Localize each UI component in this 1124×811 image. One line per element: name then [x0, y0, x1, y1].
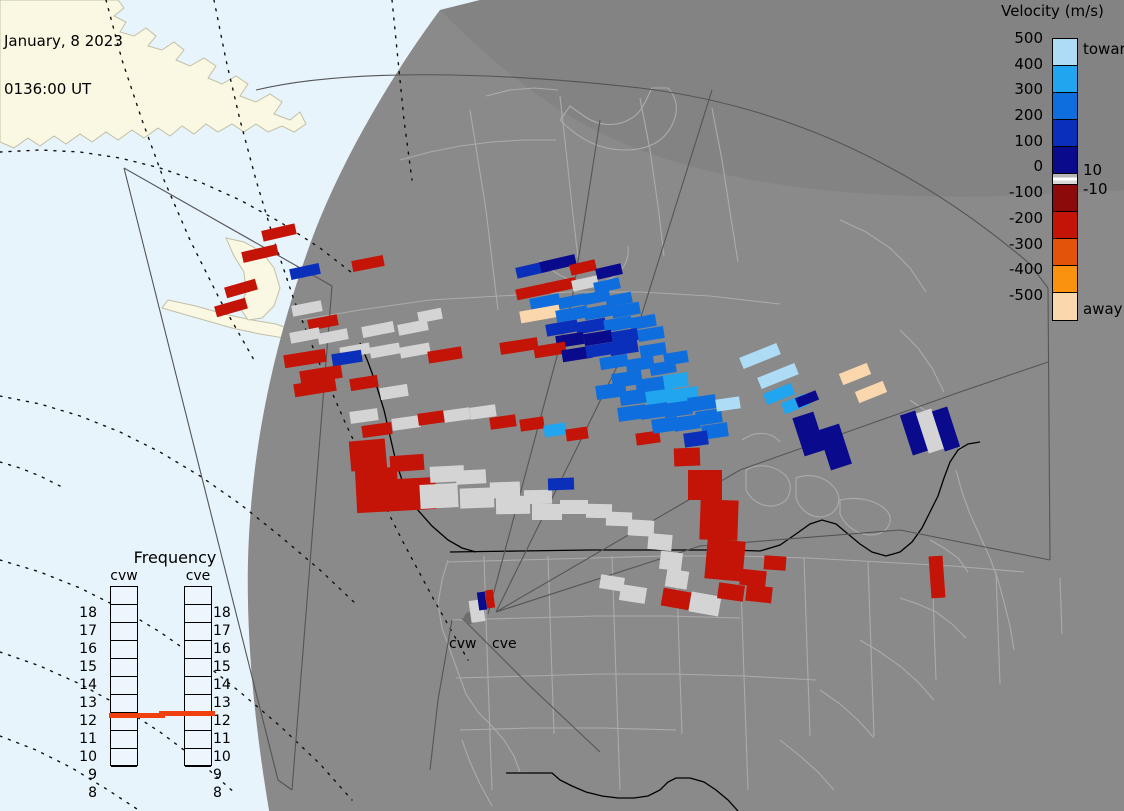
frequency-tick: 18 — [213, 606, 239, 624]
frequency-cell — [111, 695, 137, 713]
frequency-marker — [159, 711, 215, 716]
frequency-cvw-ticks: 18171615141312111098 — [71, 606, 97, 804]
velocity-cell — [349, 438, 387, 471]
frequency-tick: 8 — [71, 786, 97, 804]
frequency-tick: 11 — [213, 732, 239, 750]
velocity-colorbar: Velocity (m/s) — [975, 0, 1124, 340]
frequency-cell — [111, 731, 137, 749]
frequency-cell — [185, 623, 211, 641]
velocity-cell — [460, 487, 495, 508]
frequency-tick: 17 — [213, 624, 239, 642]
frequency-tick: 10 — [71, 750, 97, 768]
station-label-cve: cve — [492, 636, 517, 652]
frequency-cell — [185, 749, 211, 767]
frequency-title: Frequency — [85, 548, 265, 567]
frequency-cell — [111, 659, 137, 677]
frequency-tick: 12 — [213, 714, 239, 732]
colorbar-title: Velocity (m/s) — [981, 2, 1124, 20]
frequency-tick: 13 — [213, 696, 239, 714]
frequency-column-cvw: cvw 18171615141312111098 — [93, 568, 155, 766]
frequency-column-cvw-label: cvw — [93, 568, 155, 586]
station-label-cvw: cvw — [449, 636, 476, 652]
frequency-column-cve-label: cve — [167, 568, 229, 586]
velocity-cell — [674, 448, 701, 467]
frequency-tick: 9 — [71, 768, 97, 786]
velocity-cell — [745, 585, 773, 604]
velocity-cell — [929, 556, 946, 599]
frequency-cell — [185, 731, 211, 749]
velocity-cell — [665, 568, 690, 589]
frequency-tick: 11 — [71, 732, 97, 750]
velocity-cell — [456, 469, 487, 485]
frequency-tick: 14 — [213, 678, 239, 696]
frequency-cvw-bar — [110, 586, 138, 766]
frequency-cell — [185, 641, 211, 659]
frequency-cell — [111, 605, 137, 623]
timestamp: January, 8 2023 0136:00 UT — [4, 1, 123, 129]
frequency-tick: 12 — [71, 714, 97, 732]
frequency-cell — [111, 749, 137, 767]
fan-plot-canvas: January, 8 2023 0136:00 UT Velocity (m/s… — [0, 0, 1124, 811]
frequency-cell — [185, 659, 211, 677]
velocity-cell — [548, 478, 574, 491]
date-label: January, 8 2023 — [4, 33, 123, 49]
velocity-cell — [560, 500, 588, 514]
frequency-cell — [111, 587, 137, 605]
frequency-legend: Frequency cvw 18171615141312111098 cve 1… — [85, 548, 265, 788]
frequency-tick: 16 — [71, 642, 97, 660]
frequency-cell — [185, 677, 211, 695]
frequency-column-cve: cve 18171615141312111098 — [167, 568, 229, 766]
frequency-cell — [111, 641, 137, 659]
frequency-tick: 10 — [213, 750, 239, 768]
frequency-tick: 13 — [71, 696, 97, 714]
frequency-cell — [185, 695, 211, 713]
velocity-cell — [739, 569, 767, 588]
velocity-cell — [355, 467, 399, 513]
velocity-cell — [699, 499, 738, 540]
velocity-cell — [524, 490, 552, 504]
frequency-tick: 18 — [71, 606, 97, 624]
frequency-tick: 15 — [213, 660, 239, 678]
velocity-cell — [659, 551, 683, 572]
velocity-cell — [647, 533, 672, 551]
time-label: 0136:00 UT — [4, 81, 123, 97]
frequency-tick: 16 — [213, 642, 239, 660]
velocity-cell — [389, 454, 424, 472]
velocity-cell — [764, 555, 787, 571]
frequency-marker — [109, 713, 165, 718]
frequency-tick: 14 — [71, 678, 97, 696]
frequency-tick: 9 — [213, 768, 239, 786]
frequency-cell — [185, 605, 211, 623]
frequency-cell — [111, 677, 137, 695]
frequency-cell — [111, 623, 137, 641]
frequency-cve-ticks: 18171615141312111098 — [213, 606, 239, 804]
velocity-cell — [532, 504, 562, 520]
frequency-tick: 15 — [71, 660, 97, 678]
frequency-cve-bar — [184, 586, 212, 766]
velocity-cell — [688, 470, 722, 500]
frequency-tick: 8 — [213, 786, 239, 804]
velocity-cell — [419, 483, 458, 509]
frequency-tick: 17 — [71, 624, 97, 642]
frequency-cell — [185, 587, 211, 605]
velocity-cell — [704, 538, 745, 581]
